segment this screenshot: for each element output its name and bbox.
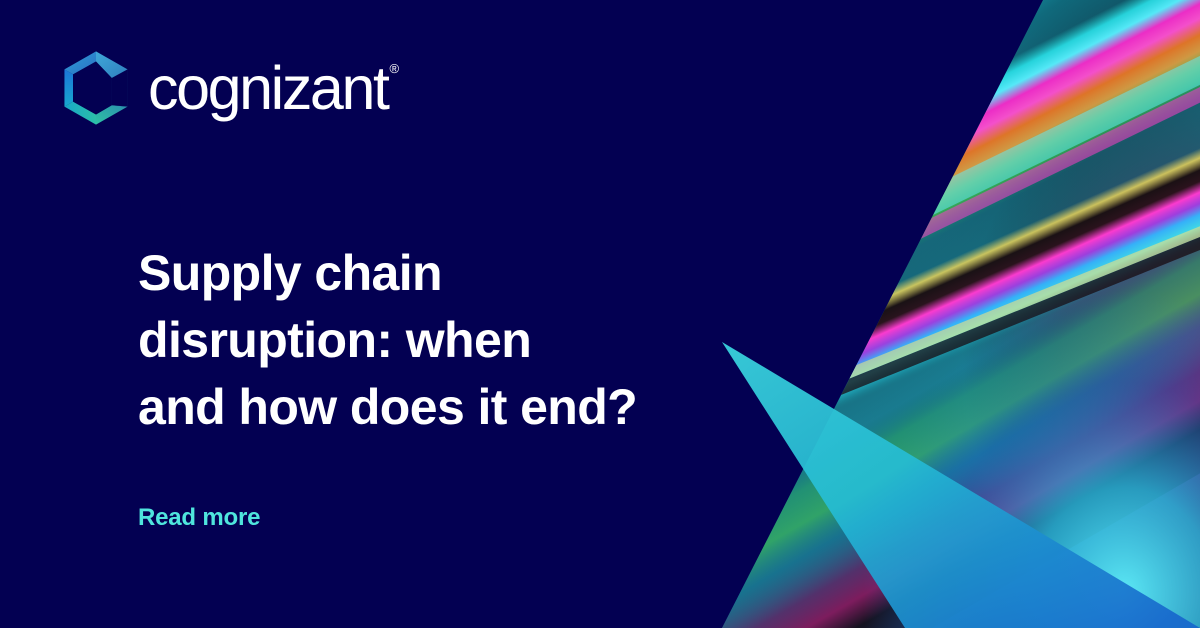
light-band-3 [680,84,1200,628]
prism-triangle [722,342,1200,628]
iridescent-artwork [680,0,1200,628]
page-title: Supply chain disruption: when and how do… [138,240,738,441]
light-band-2 [680,44,1200,584]
artwork-svg [680,0,1200,628]
headline-line-2: disruption: when [138,307,738,374]
artwork-backdrop [680,0,1200,628]
registered-trademark-icon: ® [390,62,400,75]
headline-line-1: Supply chain [138,240,738,307]
headline-line-3: and how does it end? [138,374,738,441]
light-band-5 [680,119,1200,559]
social-card: cognizant ® Supply chain disruption: whe… [0,0,1200,628]
brand-wordmark-text: cognizant [148,58,388,119]
light-band-4 [680,0,1200,491]
light-band-1 [680,0,1200,506]
read-more-link[interactable]: Read more [138,503,260,533]
brand-wordmark: cognizant ® [148,58,399,119]
artwork-iridescent-field [680,0,1200,628]
brand-logo[interactable]: cognizant ® [60,50,399,126]
cognizant-hexagon-logo-icon [60,50,132,126]
